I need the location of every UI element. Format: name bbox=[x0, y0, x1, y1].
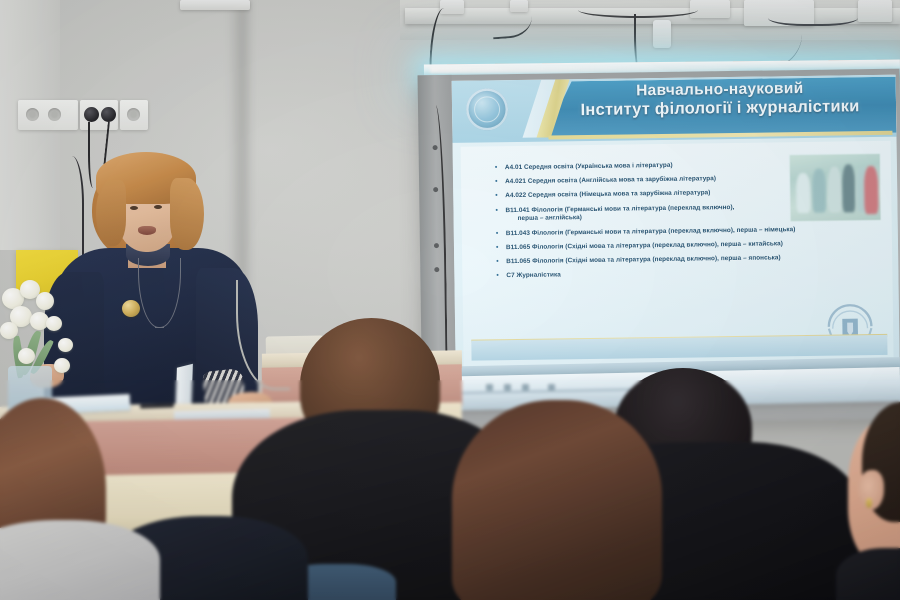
wall-power-outlets[interactable] bbox=[18, 100, 78, 130]
tray-button[interactable] bbox=[486, 384, 493, 391]
lecture-hall-scene: Навчально-науковий Інститут філології і … bbox=[0, 0, 900, 600]
ceiling-mount-bracket bbox=[180, 0, 250, 10]
presentation-slide: Навчально-науковий Інститут філології і … bbox=[452, 75, 900, 403]
flower-bloom bbox=[46, 316, 62, 331]
flower-bloom bbox=[58, 338, 73, 352]
power-plug[interactable] bbox=[101, 107, 116, 122]
board-fixture-dot bbox=[434, 267, 439, 272]
tray-button[interactable] bbox=[504, 384, 511, 391]
board-fixture-dot bbox=[434, 243, 439, 248]
board-fixture-dot bbox=[433, 187, 438, 192]
presenter-hair-side-right bbox=[170, 178, 204, 250]
presenter-necklace-pendant bbox=[122, 300, 140, 317]
power-socket[interactable] bbox=[26, 108, 39, 121]
slide-header: Навчально-науковий Інститут філології і … bbox=[452, 75, 897, 143]
flower-bloom bbox=[36, 292, 54, 310]
flower-bloom bbox=[54, 358, 70, 373]
student-hair bbox=[452, 400, 662, 600]
slide-bullet-list: А4.01 Середня освіта (Українська мова і … bbox=[505, 160, 797, 287]
list-item: В11.041 Філологія (Германські мови та лі… bbox=[505, 203, 795, 224]
student-top bbox=[0, 520, 160, 600]
power-plug[interactable] bbox=[84, 107, 99, 122]
list-item: А4.01 Середня освіта (Українська мова і … bbox=[505, 160, 795, 173]
list-item: C7 Журналістика bbox=[506, 268, 796, 281]
power-socket[interactable] bbox=[127, 108, 140, 121]
slide-body: А4.01 Середня освіта (Українська мова і … bbox=[461, 141, 894, 369]
university-globe-emblem-icon bbox=[466, 88, 509, 131]
flower-bloom bbox=[18, 348, 35, 364]
list-item: В11.043 Філологія (Германські мови та лі… bbox=[506, 226, 796, 239]
presenter-hair-side-left bbox=[96, 180, 126, 246]
wall-power-outlets[interactable] bbox=[120, 100, 148, 130]
presenter-mouth bbox=[138, 226, 156, 235]
slide-title: Навчально-науковий Інститут філології і … bbox=[552, 79, 888, 121]
list-item: А4.022 Середня освіта (Німецька мова та … bbox=[505, 189, 795, 202]
hanging-cable bbox=[768, 6, 858, 26]
ceiling-mount-bracket bbox=[653, 20, 671, 48]
list-item: В11.065 Філологія (Східні мова та літера… bbox=[506, 254, 796, 267]
tray-button[interactable] bbox=[548, 384, 555, 391]
list-item-text: В11.041 Філологія (Германські мови та лі… bbox=[505, 204, 734, 214]
group-photo-thumbnail bbox=[789, 153, 882, 222]
student-earring bbox=[866, 498, 872, 508]
list-item: А4.021 Середня освіта (Англійська мова т… bbox=[505, 174, 795, 187]
power-socket[interactable] bbox=[48, 108, 61, 121]
board-fixture-dot bbox=[433, 145, 438, 150]
presenter-eye bbox=[130, 206, 138, 210]
tray-button[interactable] bbox=[522, 384, 529, 391]
flower-bloom bbox=[0, 322, 18, 339]
list-item: В11.065 Філологія (Східні мова та літера… bbox=[506, 240, 796, 253]
presenter-eye bbox=[154, 205, 162, 209]
ceiling-mount-bracket bbox=[858, 0, 892, 22]
projection-screen[interactable]: Навчально-науковий Інститут філології і … bbox=[452, 75, 900, 403]
